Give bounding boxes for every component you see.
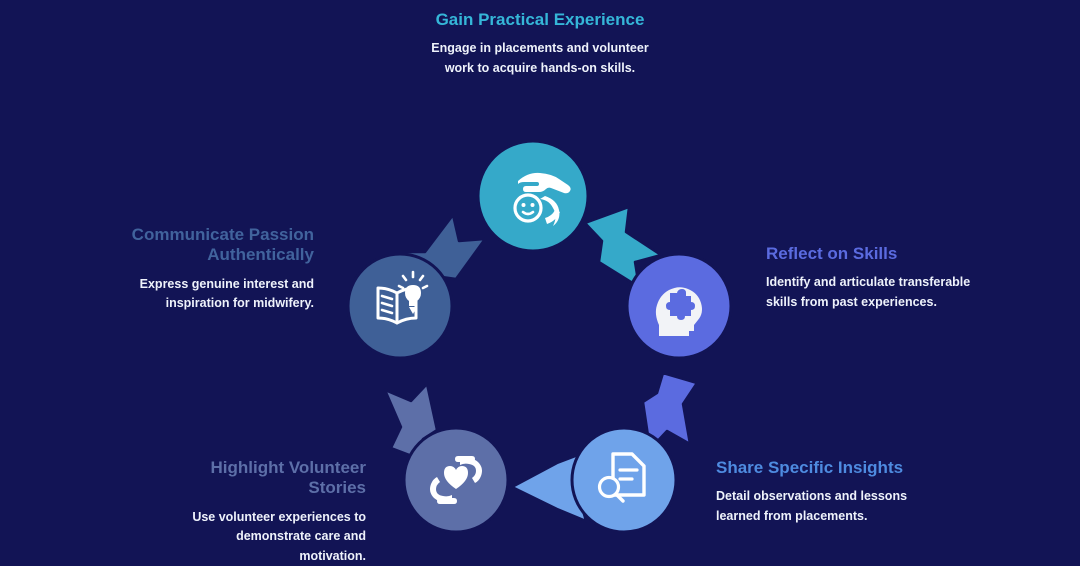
step-label-communicate-passion-authentically: Communicate Passion Authentically Expres…	[128, 225, 314, 314]
cycle-node-gain-practical-experience[interactable]	[478, 141, 588, 251]
step-description: Identify and articulate transferable ski…	[766, 273, 986, 312]
diagram-canvas: Gain Practical Experience Engage in plac…	[0, 0, 1080, 565]
cycle-node-reflect-on-skills[interactable]	[627, 254, 731, 358]
step-label-highlight-volunteer-stories: Highlight Volunteer Stories Use voluntee…	[168, 458, 366, 566]
cycle-node-communicate-passion-authentically[interactable]	[348, 254, 452, 358]
cycle-node-share-specific-insights[interactable]	[572, 428, 676, 532]
step-title: Communicate Passion Authentically	[128, 225, 314, 266]
step-title: Highlight Volunteer Stories	[168, 458, 366, 499]
step-label-share-specific-insights: Share Specific Insights Detail observati…	[716, 458, 934, 526]
cycle-node-highlight-volunteer-stories[interactable]	[404, 428, 508, 532]
step-description: Use volunteer experiences to demonstrate…	[168, 508, 366, 566]
step-label-gain-practical-experience: Gain Practical Experience Engage in plac…	[420, 10, 660, 78]
step-label-reflect-on-skills: Reflect on Skills Identify and articulat…	[766, 244, 986, 312]
step-description: Detail observations and lessons learned …	[716, 487, 934, 526]
step-description: Engage in placements and volunteer work …	[420, 39, 660, 78]
step-title: Share Specific Insights	[716, 458, 934, 478]
step-description: Express genuine interest and inspiration…	[128, 275, 314, 314]
step-title: Gain Practical Experience	[420, 10, 660, 30]
step-title: Reflect on Skills	[766, 244, 986, 264]
